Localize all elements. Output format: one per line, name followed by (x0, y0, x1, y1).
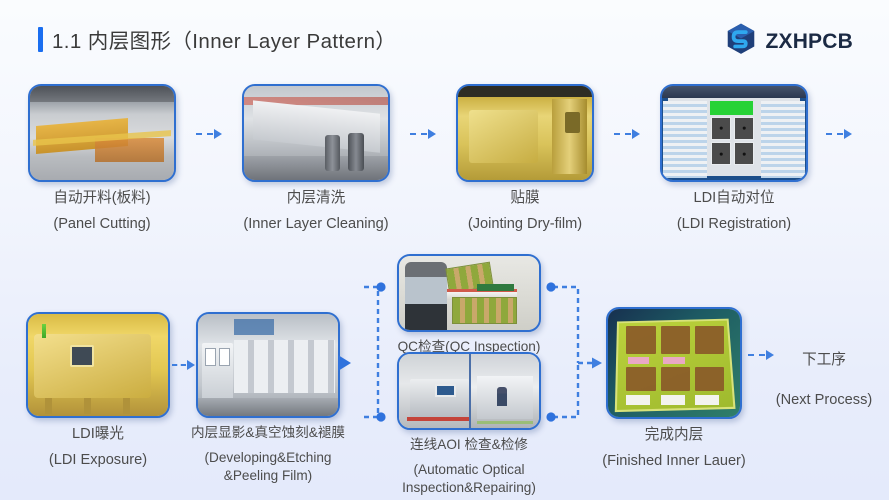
flow-node-finished-inner[interactable]: 完成内层 (Finished Inner Lauer) (606, 307, 742, 471)
caption-en: (Jointing Dry-film) (456, 214, 594, 234)
caption-en: (Inner Layer Cleaning) (242, 214, 390, 234)
flow-node-ldi-exposure[interactable]: LDI曝光 (LDI Exposure) (26, 312, 170, 470)
caption-cn: 贴膜 (456, 188, 594, 208)
caption-en: (LDI Registration) (660, 214, 808, 234)
caption-cn: LDI自动对位 (660, 188, 808, 208)
next-process-en: (Next Process) (762, 390, 886, 410)
automatic-optical-inspection-repair-photo (397, 352, 541, 430)
caption-cn: 自动开料(板料) (28, 188, 176, 208)
next-process-cn: 下工序 (762, 350, 886, 370)
title-group: 1.1 内层图形（Inner Layer Pattern） (38, 24, 396, 54)
brand-name: ZXHPCB (765, 30, 853, 54)
flow-node-aoi-inspection[interactable]: 连线AOI 检查&检修 (Automatic Optical Inspectio… (397, 352, 545, 498)
ldi-exposure-machine-photo (26, 312, 170, 418)
caption-cn: 完成内层 (606, 425, 742, 445)
brand-logo-group: ZXHPCB (724, 22, 853, 61)
dashed-arrow-right-icon (614, 129, 640, 139)
next-process-label-group: 下工序 (Next Process) (762, 330, 886, 430)
title-accent-bar (38, 27, 43, 52)
flow-node-panel-cutting[interactable]: 自动开料(板料) (Panel Cutting) (28, 84, 176, 234)
caption-cn: 连线AOI 检查&检修 (369, 436, 569, 455)
zxhpcb-hexagon-logo-icon (724, 22, 758, 61)
finished-inner-layer-pcb-photo (606, 307, 742, 419)
flow-node-dry-film[interactable]: 贴膜 (Jointing Dry-film) (456, 84, 594, 234)
factory-panel-cutting-line-photo (28, 84, 176, 182)
flow-node-ldi-registration[interactable]: LDI自动对位 (LDI Registration) (660, 84, 808, 234)
dashed-arrow-right-icon (196, 129, 222, 139)
caption-cn: LDI曝光 (26, 424, 170, 444)
flow-node-qc-inspection[interactable]: QC检查(QC Inspection) (397, 254, 545, 357)
page-header: 1.1 内层图形（Inner Layer Pattern） ZXHPCB (0, 0, 889, 72)
caption-en: (Automatic Optical Inspection&Repairing) (369, 461, 569, 498)
dashed-arrow-right-icon (410, 129, 436, 139)
flow-node-inner-cleaning[interactable]: 内层清洗 (Inner Layer Cleaning) (242, 84, 390, 234)
inner-layer-cleaning-line-photo (242, 84, 390, 182)
caption-cn: 内层清洗 (242, 188, 390, 208)
solid-triangle-arrow-right-icon (338, 355, 351, 371)
caption-en: (Developing&Etching &Peeling Film) (182, 449, 354, 486)
flow-node-develop-etch-strip[interactable]: 内层显影&真空蚀刻&褪膜 (Developing&Etching &Peelin… (196, 312, 368, 486)
page-title: 1.1 内层图形（Inner Layer Pattern） (52, 24, 396, 54)
yellow-cleanroom-dryfilm-laminator-photo (456, 84, 594, 182)
caption-en: (Panel Cutting) (28, 214, 176, 234)
dashed-arrow-right-icon (826, 129, 852, 139)
qc-inspection-worker-photo (397, 254, 541, 332)
caption-en: (LDI Exposure) (26, 450, 170, 470)
caption-cn: 内层显影&真空蚀刻&褪膜 (182, 424, 354, 443)
caption-en: (Finished Inner Lauer) (574, 451, 774, 471)
dashed-arrow-right-icon (172, 360, 195, 370)
developing-etching-peeling-line-photo (196, 312, 340, 418)
ldi-registration-software-screen-photo (660, 84, 808, 182)
